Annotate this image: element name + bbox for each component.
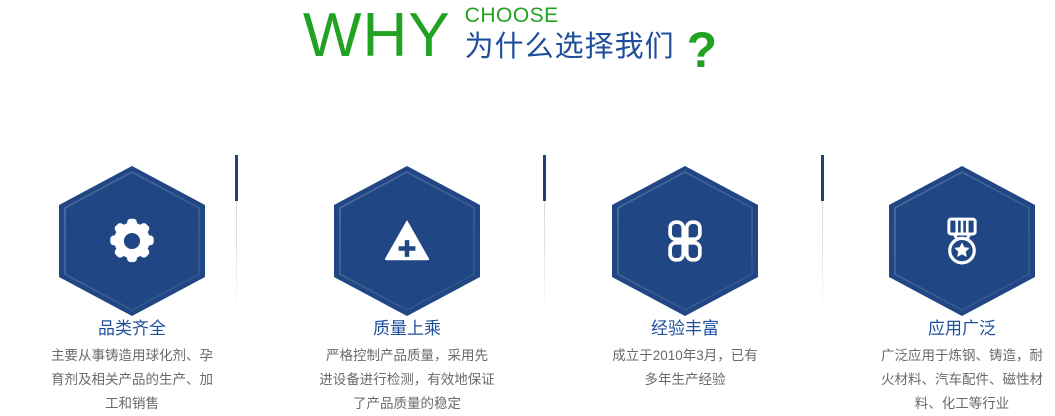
card-title: 经验丰富 (553, 318, 817, 340)
section-header: WHY CHOOSE 为什么选择我们 ? (0, 0, 1055, 100)
card-description: 广泛应用于炼钢、铸造，耐 火材料、汽车配件、磁性材 料、化工等行业 (834, 344, 1055, 416)
feature-card[interactable]: 品类齐全 主要从事铸造用球化剂、孕 育剂及相关产品的生产、加 工和销售 (0, 150, 264, 416)
card-title: 品类齐全 (0, 318, 264, 340)
header-choose-text: CHOOSE (465, 4, 675, 28)
header-title-group: WHY CHOOSE 为什么选择我们 ? (303, 0, 717, 78)
header-text-stack: CHOOSE 为什么选择我们 (465, 4, 675, 64)
triangle-plus-icon (379, 213, 435, 269)
feature-card[interactable]: 经验丰富 成立于2010年3月，已有 多年生产经验 (553, 150, 817, 416)
feature-card[interactable]: 应用广泛 广泛应用于炼钢、铸造，耐 火材料、汽车配件、磁性材 料、化工等行业 (830, 150, 1055, 416)
card-title: 应用广泛 (830, 318, 1055, 340)
hexagon-badge (59, 166, 205, 316)
divider-gray-segment (822, 201, 823, 315)
hexagon-badge (612, 166, 758, 316)
feature-cards-row: 品类齐全 主要从事铸造用球化剂、孕 育剂及相关产品的生产、加 工和销售 质量上乘… (0, 150, 1055, 416)
header-subtitle-cn: 为什么选择我们 (465, 30, 675, 64)
hexagon-badge (889, 166, 1035, 316)
divider-gray-segment (544, 201, 545, 315)
feature-card[interactable]: 质量上乘 严格控制产品质量，采用先 进设备进行检测，有效地保证 了产品质量的稳定 (275, 150, 539, 416)
card-description: 成立于2010年3月，已有 多年生产经验 (557, 344, 813, 392)
divider-blue-segment (821, 155, 824, 201)
header-question-mark: ? (687, 22, 718, 78)
medal-icon (934, 213, 990, 269)
card-divider (821, 155, 824, 315)
card-description: 主要从事铸造用球化剂、孕 育剂及相关产品的生产、加 工和销售 (4, 344, 260, 416)
header-why-text: WHY (303, 2, 451, 70)
card-title: 质量上乘 (275, 318, 539, 340)
hexagon-badge (334, 166, 480, 316)
clover-icon (657, 213, 713, 269)
card-divider (543, 155, 546, 315)
gear-icon (104, 213, 160, 269)
card-description: 严格控制产品质量，采用先 进设备进行检测，有效地保证 了产品质量的稳定 (279, 344, 535, 416)
divider-blue-segment (543, 155, 546, 201)
